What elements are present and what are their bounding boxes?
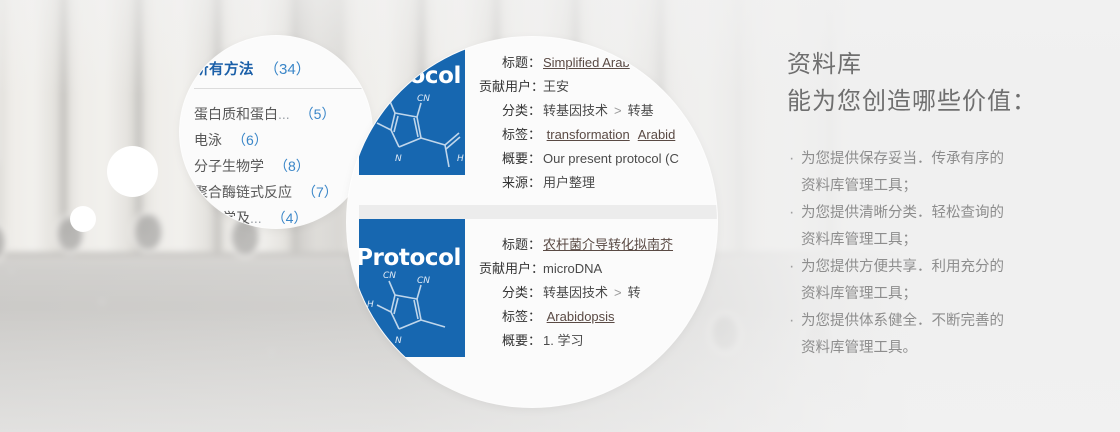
protocol-thumbnail[interactable]: Protocol [359, 219, 465, 357]
promo-bullet-line-a: 为您提供清晰分类．轻松查询的 [801, 205, 1004, 221]
category-item-label: 信息学及 [194, 210, 250, 226]
category-header: 所有方法 （34） [194, 36, 372, 89]
decorative-dot-large [107, 146, 158, 197]
result-abstract-row: 概要 1. 学习 [479, 329, 673, 353]
category-item-label: 蛋白质和蛋白 [194, 106, 278, 122]
promo-banner: 所有方法 （34） 蛋白质和蛋白...（5） 电泳（6） 分子生物学（8） 聚合… [0, 0, 1120, 432]
label-title: 标题 [479, 233, 541, 257]
category-crumb-2[interactable]: 转基 [628, 103, 654, 118]
category-item-molecular-biology[interactable]: 分子生物学（8） [194, 153, 372, 179]
category-item-pcr[interactable]: 聚合酶链式反应（7） [194, 179, 372, 205]
category-item-ellipsis: ... [250, 210, 262, 226]
svg-text:H: H [457, 154, 464, 164]
result-abstract-row: 概要 Our present protocol (C [479, 147, 683, 171]
category-header-count: （34） [264, 58, 311, 79]
result-abstract-value: 1. 学习 [541, 329, 583, 353]
protocol-thumbnail[interactable]: rotocol [359, 37, 465, 175]
tag-chip[interactable]: Arabid [638, 127, 676, 142]
molecule-icon: CN CN H N [359, 265, 465, 357]
svg-text:H: H [367, 118, 374, 128]
result-title-value: 农杆菌介导转化拟南芥 [541, 233, 673, 257]
result-title-value: Simplified Arab [541, 51, 630, 75]
result-title-row: 标题 Simplified Arab [479, 51, 683, 75]
promo-title-line-2: 能为您创造哪些价值： [787, 88, 1037, 115]
promo-bullet-line-a: 为您提供方便共享．利用充分的 [801, 259, 1004, 275]
svg-text:CN: CN [417, 94, 430, 104]
label-category: 分类 [479, 281, 541, 305]
category-circle-window: 所有方法 （34） 蛋白质和蛋白...（5） 电泳（6） 分子生物学（8） 聚合… [180, 36, 372, 228]
result-meta: 标题 Simplified Arab 贡献用户 王安 分类 转基因技术>转基 标… [465, 37, 683, 205]
category-list: 蛋白质和蛋白...（5） 电泳（6） 分子生物学（8） 聚合酶链式反应（7） 信… [180, 89, 372, 228]
category-item-protein[interactable]: 蛋白质和蛋白...（5） [194, 101, 372, 127]
category-item-label: 分子生物学 [194, 158, 264, 174]
category-item-ellipsis: ... [278, 106, 290, 122]
results-panel: rotocol [359, 37, 717, 363]
category-item-informatics[interactable]: 信息学及...（4） [194, 205, 372, 228]
result-tags-value: Arabidopsis [541, 305, 623, 329]
label-tags: 标签 [479, 305, 541, 329]
svg-text:N: N [395, 336, 402, 346]
decorative-dot-small [70, 206, 96, 232]
svg-text:CN: CN [383, 89, 396, 99]
result-abstract-value: Our present protocol (C [541, 147, 679, 171]
promo-title-line-1: 资料库 [787, 51, 862, 78]
category-item-count: （8） [274, 158, 310, 174]
result-source-row: 来源 用户整理 [479, 171, 683, 195]
list-item: 为您提供方便共享．利用充分的 资料库管理工具； [787, 254, 1087, 308]
list-item: 为您提供体系健全．不断完善的 资料库管理工具。 [787, 308, 1087, 362]
label-category: 分类 [479, 99, 541, 123]
result-category-value: 转基因技术>转 [541, 281, 641, 305]
promo-bullet-line-a: 为您提供体系健全．不断完善的 [801, 313, 1004, 329]
category-item-count: （7） [302, 184, 338, 200]
category-crumb-1[interactable]: 转基因技术 [543, 103, 608, 118]
results-circle-window: rotocol [347, 37, 717, 407]
label-abstract: 概要 [479, 147, 541, 171]
result-source-value: 用户整理 [541, 171, 595, 195]
result-tags-row: 标签 transformationArabid [479, 123, 683, 147]
svg-text:CN: CN [383, 271, 396, 281]
category-item-count: （5） [300, 106, 336, 122]
category-item-label: 聚合酶链式反应 [194, 184, 292, 200]
category-item-electrophoresis[interactable]: 电泳（6） [194, 127, 372, 153]
list-item: 为您提供保存妥当．传承有序的 资料库管理工具； [787, 146, 1087, 200]
category-crumb-1[interactable]: 转基因技术 [543, 285, 608, 300]
result-category-value: 转基因技术>转基 [541, 99, 654, 123]
page-title: 资料库 能为您创造哪些价值： [787, 46, 1087, 120]
list-item: 为您提供清晰分类．轻松查询的 资料库管理工具； [787, 200, 1087, 254]
result-tags-row: 标签 Arabidopsis [479, 305, 673, 329]
promo-bullet-line-b: 资料库管理工具； [801, 286, 917, 302]
result-user-value: 王安 [541, 75, 569, 99]
result-row[interactable]: rotocol [359, 37, 717, 205]
category-crumb-separator: > [614, 285, 622, 300]
result-category-row: 分类 转基因技术>转基 [479, 99, 683, 123]
label-title: 标题 [479, 51, 541, 75]
label-abstract: 概要 [479, 329, 541, 353]
svg-text:CN: CN [417, 276, 430, 286]
result-user-value: microDNA [541, 257, 602, 281]
category-crumb-2[interactable]: 转 [628, 285, 641, 300]
result-meta: 标题 农杆菌介导转化拟南芥 贡献用户 microDNA 分类 转基因技术>转 标… [465, 219, 673, 363]
label-user: 贡献用户 [479, 75, 541, 99]
result-title-link[interactable]: Simplified Arab [543, 55, 630, 70]
result-user-row: 贡献用户 microDNA [479, 257, 673, 281]
category-item-count: （6） [232, 132, 268, 148]
tag-chip[interactable]: Arabidopsis [547, 309, 615, 324]
label-tags: 标签 [479, 123, 541, 147]
result-category-row: 分类 转基因技术>转 [479, 281, 673, 305]
promo-bullet-line-b: 资料库管理工具； [801, 178, 917, 194]
label-user: 贡献用户 [479, 257, 541, 281]
category-item-count: （4） [272, 210, 308, 226]
promo-text-column: 资料库 能为您创造哪些价值： 为您提供保存妥当．传承有序的 资料库管理工具； 为… [787, 46, 1087, 362]
category-header-title: 所有方法 [194, 58, 254, 79]
tag-chip[interactable]: transformation [547, 127, 630, 142]
promo-bullet-list: 为您提供保存妥当．传承有序的 资料库管理工具； 为您提供清晰分类．轻松查询的 资… [787, 146, 1087, 362]
svg-text:N: N [395, 154, 402, 164]
svg-text:H: H [367, 300, 374, 310]
molecule-icon: CN CN H N H [359, 83, 465, 175]
category-panel: 所有方法 （34） 蛋白质和蛋白...（5） 电泳（6） 分子生物学（8） 聚合… [180, 36, 372, 228]
label-source: 来源 [479, 171, 541, 195]
result-list-divider [359, 205, 717, 219]
promo-bullet-line-b: 资料库管理工具。 [801, 340, 917, 356]
category-item-label: 电泳 [194, 132, 222, 148]
result-title-link[interactable]: 农杆菌介导转化拟南芥 [543, 237, 673, 252]
promo-bullet-line-a: 为您提供保存妥当．传承有序的 [801, 151, 1004, 167]
result-user-row: 贡献用户 王安 [479, 75, 683, 99]
result-tags-value: transformationArabid [541, 123, 683, 147]
result-title-row: 标题 农杆菌介导转化拟南芥 [479, 233, 673, 257]
table-row[interactable]: Protocol [359, 219, 717, 363]
promo-bullet-line-b: 资料库管理工具； [801, 232, 917, 248]
category-crumb-separator: > [614, 103, 622, 118]
